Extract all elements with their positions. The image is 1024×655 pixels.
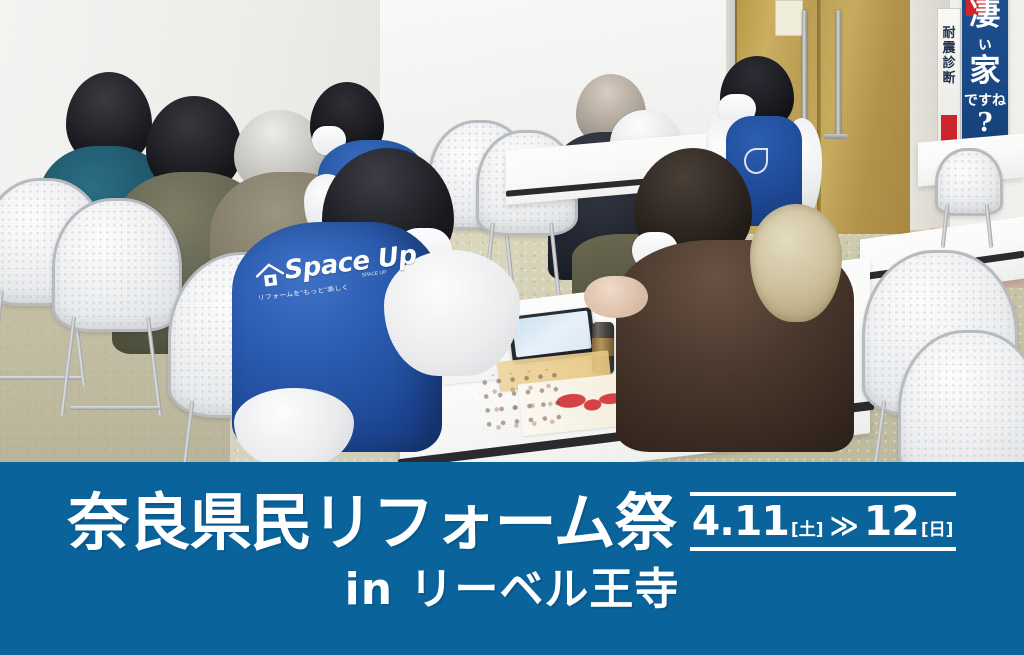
banner-kanji-1: 凄: [962, 0, 1008, 31]
tablet-screen: [512, 311, 592, 358]
earthquake-diagnosis-sign-text: 耐震診断: [938, 27, 960, 87]
door-handle-right-icon: [836, 10, 841, 138]
banner-title-row: 奈良県民リフォーム祭 4.11 [土] ≫ 12 [日]: [0, 492, 1024, 554]
event-date-line: 4.11 [土] ≫ 12 [日]: [692, 501, 955, 542]
banner-kanji-2: ぃ: [962, 36, 1008, 52]
event-end-date: 12: [864, 501, 919, 542]
event-title: 奈良県民リフォーム祭: [68, 492, 676, 554]
event-venue: in リーベル王寺: [0, 568, 1024, 612]
banner-question-mark: ?: [962, 108, 1008, 138]
chair-seatback: [52, 198, 182, 332]
banner-kanji-3: 家: [962, 56, 1008, 87]
house-icon: [254, 260, 287, 289]
event-start-date: 4.11: [692, 501, 789, 542]
door-notice-paper: [775, 0, 803, 36]
event-banner: 奈良県民リフォーム祭 4.11 [土] ≫ 12 [日] in リーベル王寺: [0, 462, 1024, 655]
chair-right-foreground-2: [898, 330, 1024, 462]
event-date-separator-icon: ≫: [829, 512, 858, 540]
venue-vertical-banner: 凄 ぃ 家 ですね ?: [962, 0, 1008, 146]
chair-seatback: [898, 330, 1024, 462]
sign-red-block: [941, 115, 957, 141]
staff-white-sleeve-left: [234, 388, 354, 462]
chair-rail: [0, 376, 82, 380]
event-end-weekday: [日]: [921, 522, 954, 539]
event-start-weekday: [土]: [791, 522, 824, 539]
earthquake-diagnosis-sign: 耐震診断: [937, 8, 961, 150]
customer-leather-jacket: [616, 148, 866, 448]
chair-mid-left-2: [52, 198, 176, 326]
venue-photo: 耐震診断 凄 ぃ 家 ですね ?: [0, 0, 1024, 462]
event-date-box: 4.11 [土] ≫ 12 [日]: [690, 492, 957, 551]
chair-far-right-back: [935, 148, 997, 210]
banner-kanji-4: ですね: [962, 94, 1008, 108]
fur-hood-trim: [750, 204, 842, 322]
chair-rail: [70, 406, 160, 410]
door-handle-right-base: [824, 134, 848, 139]
event-poster: 耐震診断 凄 ぃ 家 ですね ?: [0, 0, 1024, 655]
customer-hand: [584, 276, 648, 318]
